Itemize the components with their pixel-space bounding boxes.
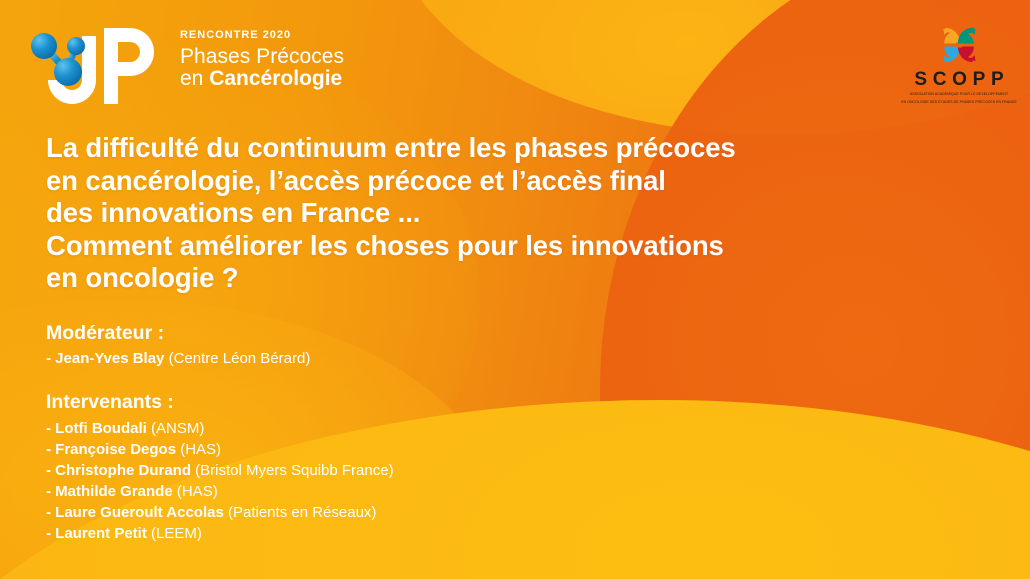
- scopp-subtitle-line1: ASSOCIATION ACADEMIQUE POUR LE DEVELOPPE…: [899, 92, 1019, 97]
- slide-content: La difficulté du continuum entre les pha…: [46, 132, 886, 544]
- jp-monogram-icon: [20, 22, 180, 114]
- person-affiliation: (HAS): [176, 441, 221, 458]
- speakers-heading: Intervenants :: [46, 390, 886, 414]
- person-name: - Laurent Petit: [46, 525, 147, 542]
- speakers-section: Intervenants : - Lotfi Boudali (ANSM) - …: [46, 390, 886, 544]
- scopp-pinwheel-icon: [934, 24, 984, 66]
- person-affiliation: (Bristol Myers Squibb France): [191, 462, 394, 479]
- jp-logo-rencontre: RENCONTRE 2020: [180, 30, 344, 41]
- scopp-wordmark: SCOPP: [906, 70, 1018, 89]
- speaker-entry: - Lotfi Boudali (ANSM): [46, 418, 886, 439]
- moderator-section: Modérateur : - Jean-Yves Blay (Centre Lé…: [46, 321, 886, 370]
- jp-logo-line1: Phases Précoces: [180, 46, 344, 68]
- title-line: des innovations en France ...: [46, 197, 886, 230]
- jp-logo-line2: en Cancérologie: [180, 68, 344, 90]
- person-name: - Laure Gueroult Accolas: [46, 504, 224, 521]
- scopp-logo: SCOPP ASSOCIATION ACADEMIQUE POUR LE DEV…: [900, 24, 1018, 104]
- person-affiliation: (HAS): [173, 483, 218, 500]
- person-affiliation: (Centre Léon Bérard): [164, 350, 310, 367]
- person-affiliation: (ANSM): [147, 420, 205, 437]
- title-line: en oncologie ?: [46, 262, 886, 295]
- person-name: - Lotfi Boudali: [46, 420, 147, 437]
- speakers-list: - Lotfi Boudali (ANSM) - Françoise Degos…: [46, 418, 886, 544]
- person-name: - Jean-Yves Blay: [46, 350, 164, 367]
- presentation-slide: RENCONTRE 2020 Phases Précoces en Cancér…: [0, 0, 1030, 579]
- person-name: - Françoise Degos: [46, 441, 176, 458]
- moderator-entry: - Jean-Yves Blay (Centre Léon Bérard): [46, 349, 886, 370]
- moderator-heading: Modérateur :: [46, 321, 886, 345]
- session-title: La difficulté du continuum entre les pha…: [46, 132, 886, 295]
- jp-logo-line2-prefix: en: [180, 67, 209, 90]
- person-name: - Christophe Durand: [46, 462, 191, 479]
- molecule-dot: [31, 33, 57, 59]
- scopp-subtitle-line2: EN ONCOLOGIE DES ETUDES DE PHASES PRECOC…: [899, 100, 1019, 105]
- jp-letter-p: [104, 28, 154, 104]
- speaker-entry: - Laurent Petit (LEEM): [46, 523, 886, 544]
- molecule-dot: [67, 37, 85, 55]
- speaker-entry: - Françoise Degos (HAS): [46, 439, 886, 460]
- moderator-list: - Jean-Yves Blay (Centre Léon Bérard): [46, 349, 886, 370]
- person-affiliation: (Patients en Réseaux): [224, 504, 377, 521]
- speaker-entry: - Laure Gueroult Accolas (Patients en Ré…: [46, 502, 886, 523]
- title-line: Comment améliorer les choses pour les in…: [46, 230, 886, 263]
- molecule-dot: [54, 58, 82, 86]
- speaker-entry: - Christophe Durand (Bristol Myers Squib…: [46, 460, 886, 481]
- person-affiliation: (LEEM): [147, 525, 202, 542]
- title-line: en cancérologie, l’accès précoce et l’ac…: [46, 165, 886, 198]
- jp-logo-line2-bold: Cancérologie: [209, 67, 342, 90]
- jp-logo-wordmark: RENCONTRE 2020 Phases Précoces en Cancér…: [180, 30, 344, 91]
- title-line: La difficulté du continuum entre les pha…: [46, 132, 886, 165]
- speaker-entry: - Mathilde Grande (HAS): [46, 481, 886, 502]
- person-name: - Mathilde Grande: [46, 483, 173, 500]
- jp-logo: RENCONTRE 2020 Phases Précoces en Cancér…: [20, 22, 285, 114]
